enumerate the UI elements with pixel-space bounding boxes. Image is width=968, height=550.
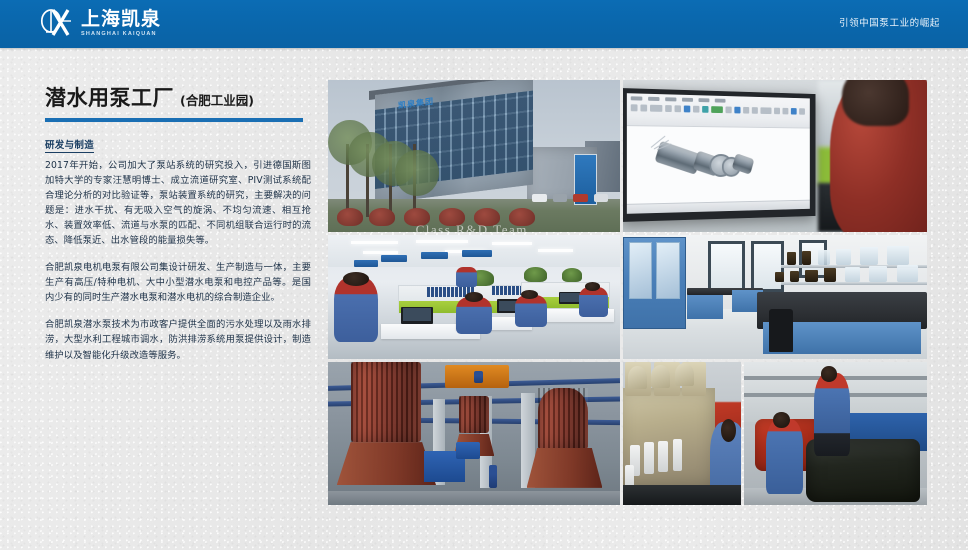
body-paragraph-1: 2017年开始，公司加大了泵站系统的研究投入，引进德国斯图加特大学的专家汪慧明博… — [45, 158, 311, 248]
body-paragraph-2: 合肥凯泉电机电泵有限公司集设计研发、生产制造与一体，主要生产有高压/特种电机、大… — [45, 260, 311, 305]
brand-name-cn: 上海凯泉 — [81, 10, 161, 29]
photo-cad-workstation[interactable] — [623, 80, 927, 232]
photo-headquarters-building[interactable]: 凯泉集团 Cl — [328, 80, 620, 232]
photo-gallery-grid: 凯泉集团 Cl — [328, 80, 927, 505]
section-heading: 研发与制造 — [45, 137, 94, 153]
photo-row-bottom — [328, 362, 927, 505]
header-tagline: 引领中国泵工业的崛起 — [839, 0, 940, 48]
slide-canvas: 上海凯泉 SHANGHAI KAIQUAN 引领中国泵工业的崛起 潜水用泵工厂 … — [0, 0, 968, 550]
page-title-sub: (合肥工业园) — [180, 90, 254, 109]
page-header: 上海凯泉 SHANGHAI KAIQUAN 引领中国泵工业的崛起 — [0, 0, 968, 48]
photo-diesel-engine[interactable] — [623, 362, 741, 505]
brand-wordmark: 上海凯泉 SHANGHAI KAIQUAN — [81, 10, 161, 38]
title-underline-rule — [45, 118, 303, 122]
body-paragraph-3: 合肥凯泉潜水泵技术为市政客户提供全面的污水处理以及雨水排涝，大型水利工程城市调水… — [45, 317, 311, 362]
section-heading-wrap: 研发与制造 — [45, 135, 311, 158]
brand-logo[interactable]: 上海凯泉 SHANGHAI KAIQUAN — [40, 8, 161, 40]
page-title: 潜水用泵工厂 (合肥工业园) — [45, 82, 311, 112]
text-column: 潜水用泵工厂 (合肥工业园) 研发与制造 2017年开始，公司加大了泵站系统的研… — [45, 82, 311, 375]
kaiquan-qk-monogram-icon — [40, 8, 74, 40]
photo-rd-office[interactable] — [328, 235, 620, 359]
brand-name-en: SHANGHAI KAIQUAN — [81, 32, 161, 38]
photo-laboratory[interactable] — [623, 235, 927, 359]
photo-pump-assembly-hall[interactable] — [328, 362, 620, 505]
page-title-main: 潜水用泵工厂 — [45, 82, 174, 112]
photo-workers-assembly[interactable] — [744, 362, 927, 505]
